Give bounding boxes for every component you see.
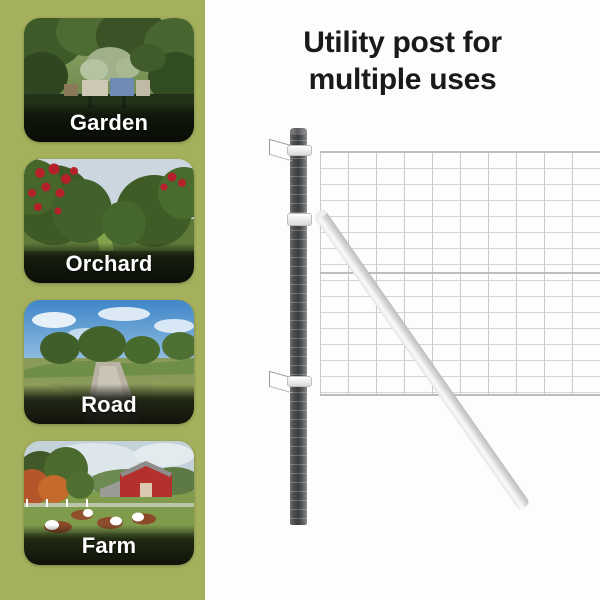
clamp-lower (287, 376, 312, 387)
use-case-card-farm[interactable]: Farm (24, 441, 194, 565)
clamp-middle (287, 213, 312, 226)
fence-post (290, 131, 307, 525)
post-top-cap (290, 128, 307, 135)
use-case-card-garden[interactable]: Garden (24, 18, 194, 142)
product-illustration (205, 0, 600, 600)
use-case-label: Road (24, 390, 194, 420)
clamp-top (287, 145, 312, 156)
use-case-card-orchard[interactable]: Orchard (24, 159, 194, 283)
use-case-label: Orchard (24, 249, 194, 279)
infographic-page: Garden (0, 0, 600, 600)
mesh-bottom-wire (320, 394, 600, 396)
use-case-card-road[interactable]: Road (24, 300, 194, 424)
use-case-label: Farm (24, 531, 194, 561)
mesh-top-wire (320, 151, 600, 153)
use-case-label: Garden (24, 108, 194, 138)
use-case-sidebar: Garden (0, 0, 205, 600)
